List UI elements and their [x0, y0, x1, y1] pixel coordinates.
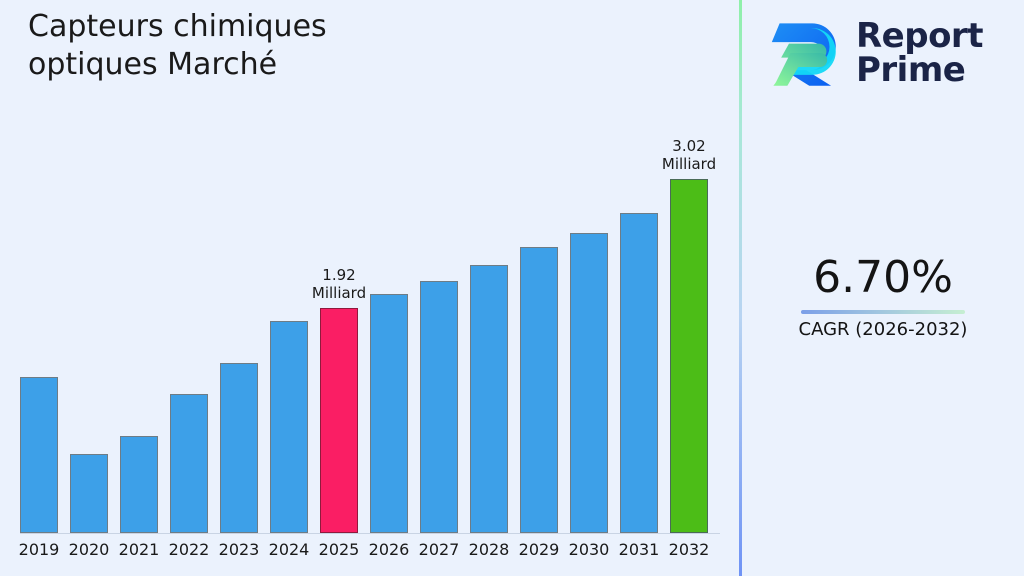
bar-rect-2027: [420, 281, 458, 533]
bar-value-label-2032: 3.02 Milliard: [662, 137, 716, 173]
bar-2019: [20, 0, 58, 533]
bar-2021: [120, 0, 158, 533]
x-tick-2025: 2025: [314, 540, 364, 559]
bar-value-label-2025: 1.92 Milliard: [312, 266, 366, 302]
x-tick-2026: 2026: [364, 540, 414, 559]
bar-rect-2032: [670, 179, 708, 533]
bar-2028: [470, 0, 508, 533]
cagr-value: 6.70%: [742, 252, 1024, 304]
x-tick-2027: 2027: [414, 540, 464, 559]
chart-infographic: Capteurs chimiques optiques Marché 1.92 …: [0, 0, 1024, 576]
x-tick-2029: 2029: [514, 540, 564, 559]
bar-rect-2022: [170, 394, 208, 533]
x-tick-2024: 2024: [264, 540, 314, 559]
bar-rect-2031: [620, 213, 658, 533]
bar-rect-2028: [470, 265, 508, 533]
x-axis-line: [20, 533, 720, 534]
x-tick-2020: 2020: [64, 540, 114, 559]
report-prime-logo-icon: [764, 14, 842, 92]
x-tick-2028: 2028: [464, 540, 514, 559]
bar-2022: [170, 0, 208, 533]
bar-rect-2019: [20, 377, 58, 533]
bar-rect-2020: [70, 454, 108, 533]
x-tick-2030: 2030: [564, 540, 614, 559]
bar-rect-2025: [320, 308, 358, 533]
cagr-divider: [801, 310, 965, 314]
cagr-caption: CAGR (2026-2032): [742, 318, 1024, 342]
brand-logo-block: Report Prime: [764, 14, 983, 92]
bar-2024: [270, 0, 308, 533]
x-tick-2031: 2031: [614, 540, 664, 559]
bar-rect-2026: [370, 294, 408, 533]
bar-rect-2021: [120, 436, 158, 533]
chart-panel: Capteurs chimiques optiques Marché 1.92 …: [0, 0, 739, 576]
x-tick-2023: 2023: [214, 540, 264, 559]
bar-2029: [520, 0, 558, 533]
bar-2025: 1.92 Milliard: [320, 0, 358, 533]
x-tick-2022: 2022: [164, 540, 214, 559]
brand-panel: Report Prime 6.70% CAGR (2026-2032): [742, 0, 1024, 576]
bar-rect-2024: [270, 321, 308, 533]
x-tick-2032: 2032: [664, 540, 714, 559]
bar-2030: [570, 0, 608, 533]
bar-2031: [620, 0, 658, 533]
brand-name: Report Prime: [856, 19, 983, 87]
bar-2020: [70, 0, 108, 533]
bar-rect-2029: [520, 247, 558, 533]
cagr-block: 6.70% CAGR (2026-2032): [742, 252, 1024, 342]
bar-2026: [370, 0, 408, 533]
bar-rect-2023: [220, 363, 258, 533]
bar-2027: [420, 0, 458, 533]
bar-2032: 3.02 Milliard: [670, 0, 708, 533]
x-tick-2019: 2019: [14, 540, 64, 559]
bar-rect-2030: [570, 233, 608, 533]
x-tick-2021: 2021: [114, 540, 164, 559]
bar-2023: [220, 0, 258, 533]
